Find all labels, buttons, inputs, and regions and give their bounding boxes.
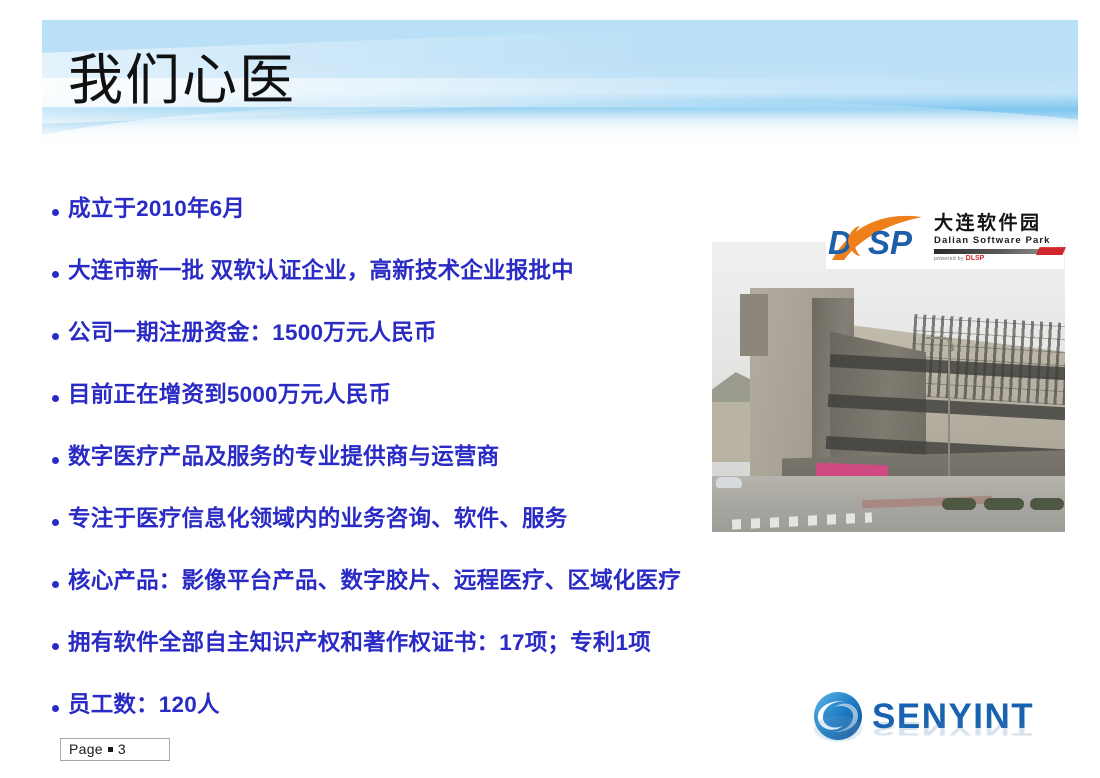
photo-hedge (984, 498, 1024, 510)
bullet-text: 数字医疗产品及服务的专业提供商与运营商 (68, 444, 499, 469)
list-item: 拥有软件全部自主知识产权和著作权证书：17项；专利1项 (52, 630, 752, 692)
photo-car (716, 477, 742, 488)
bullet-dot-icon (52, 581, 59, 588)
list-item: 数字医疗产品及服务的专业提供商与运营商 (52, 444, 752, 506)
senyint-logo: SENYINT SENYINT (812, 690, 1076, 772)
list-item: 专注于医疗信息化领域内的业务咨询、软件、服务 (52, 506, 752, 568)
dsp-english-name: Dalian Software Park (934, 234, 1064, 247)
bullet-dot-icon (52, 271, 59, 278)
bullet-text: 公司一期注册资金：1500万元人民币 (68, 320, 437, 345)
bullet-text: 目前正在增资到5000万元人民币 (68, 382, 391, 407)
bullet-dot-icon (52, 333, 59, 340)
bullet-dot-icon (52, 209, 59, 216)
bullet-text: 员工数：120人 (68, 692, 220, 717)
dsp-text-block: 大连软件园 Dalian Software Park powered by DL… (930, 214, 1064, 262)
bullet-text: 专注于医疗信息化领域内的业务咨询、软件、服务 (68, 506, 567, 531)
bullet-list: 成立于2010年6月 大连市新一批 双软认证企业，高新技术企业报批中 公司一期注… (52, 196, 752, 754)
page-label: Page (69, 741, 103, 757)
bullet-text: 核心产品：影像平台产品、数字胶片、远程医疗、区域化医疗 (68, 568, 681, 593)
page-number-box: Page3 (60, 738, 170, 761)
page-title: 我们心医 (68, 52, 296, 110)
photo-tower-notch (740, 294, 768, 356)
photo-hedge (942, 498, 976, 510)
list-item: 大连市新一批 双软认证企业，高新技术企业报批中 (52, 258, 752, 320)
bullet-dot-icon (52, 705, 59, 712)
list-item: 成立于2010年6月 (52, 196, 752, 258)
page-number: 3 (118, 741, 126, 757)
list-item: 公司一期注册资金：1500万元人民币 (52, 320, 752, 382)
bullet-dot-icon (52, 643, 59, 650)
list-item: 目前正在增资到5000万元人民币 (52, 382, 752, 444)
bullet-dot-icon (52, 395, 59, 402)
list-item: 核心产品：影像平台产品、数字胶片、远程医疗、区域化医疗 (52, 568, 752, 630)
dsp-mark-icon: D SP (826, 214, 930, 262)
building-photo (712, 242, 1065, 532)
bullet-text: 成立于2010年6月 (68, 196, 245, 221)
dsp-logo: D SP 大连软件园 Dalian Software Park powered … (826, 207, 1064, 269)
photo-hedge (1030, 498, 1064, 510)
senyint-logo-reflection: SENYINT (812, 714, 1076, 743)
dsp-powered-brand: DLSP (966, 255, 985, 262)
slide-canvas: 我们心医 成立于2010年6月 大连市新一批 双软认证企业，高新技术企业报批中 … (0, 0, 1100, 778)
dsp-powered-label: powered by (934, 256, 964, 262)
bullet-dot-icon (52, 457, 59, 464)
bullet-text: 大连市新一批 双软认证企业，高新技术企业报批中 (68, 258, 574, 283)
dsp-divider-bar (934, 249, 1058, 254)
bullet-dot-icon (52, 519, 59, 526)
bullet-text: 拥有软件全部自主知识产权和著作权证书：17项；专利1项 (68, 630, 651, 655)
page-separator-icon (108, 747, 113, 752)
senyint-wordmark-reflection: SENYINT (872, 719, 1034, 738)
senyint-swirl-reflection-icon (812, 714, 864, 743)
svg-text:SP: SP (868, 224, 913, 261)
dsp-chinese-name: 大连软件园 (934, 214, 1064, 234)
dsp-powered-by: powered by DLSP (934, 255, 1064, 262)
